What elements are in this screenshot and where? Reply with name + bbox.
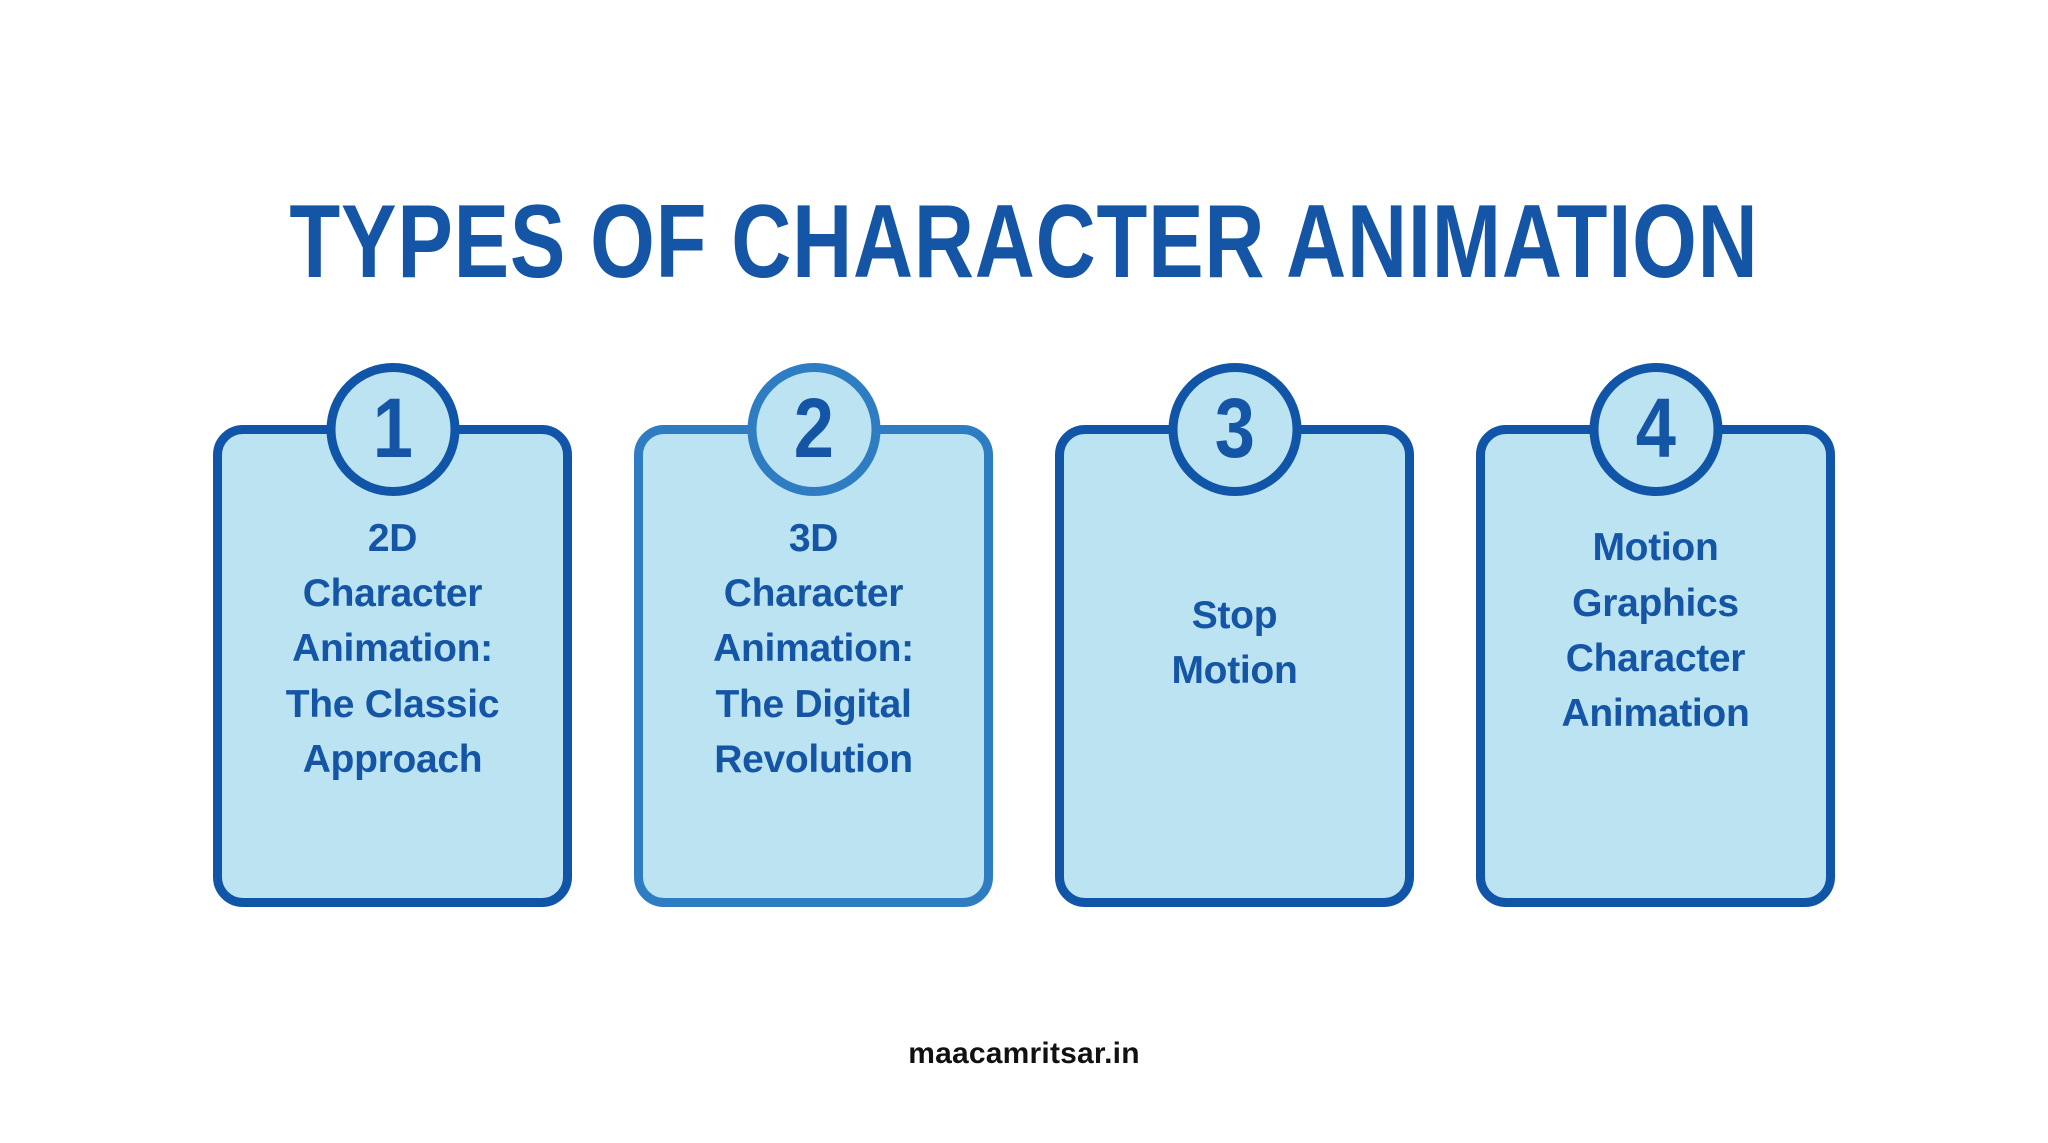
card-label-3: Stop Motion bbox=[1064, 588, 1405, 699]
infographic-canvas: TYPES OF CHARACTER ANIMATION 1 2D Charac… bbox=[0, 0, 2048, 1143]
number-badge-3: 3 bbox=[1168, 363, 1301, 496]
card-label-4: Motion Graphics Character Animation bbox=[1485, 520, 1826, 742]
card-item-2[interactable]: 2 3D Character Animation: The Digital Re… bbox=[634, 425, 993, 907]
number-badge-4: 4 bbox=[1589, 363, 1722, 496]
badge-number-label: 4 bbox=[1635, 386, 1675, 470]
card-item-4[interactable]: 4 Motion Graphics Character Animation bbox=[1476, 425, 1835, 907]
card-label-1: 2D Character Animation: The Classic Appr… bbox=[222, 511, 563, 788]
badge-number-label: 1 bbox=[372, 386, 412, 470]
card-row: 1 2D Character Animation: The Classic Ap… bbox=[213, 425, 1835, 907]
badge-number-label: 3 bbox=[1214, 386, 1254, 470]
card-label-2: 3D Character Animation: The Digital Revo… bbox=[643, 511, 984, 788]
page-title: TYPES OF CHARACTER ANIMATION bbox=[205, 190, 1843, 294]
footer-website[interactable]: maacamritsar.in bbox=[0, 1037, 2048, 1071]
number-badge-1: 1 bbox=[326, 363, 459, 496]
badge-number-label: 2 bbox=[793, 386, 833, 470]
card-item-3[interactable]: 3 Stop Motion bbox=[1055, 425, 1414, 907]
number-badge-2: 2 bbox=[747, 363, 880, 496]
card-item-1[interactable]: 1 2D Character Animation: The Classic Ap… bbox=[213, 425, 572, 907]
